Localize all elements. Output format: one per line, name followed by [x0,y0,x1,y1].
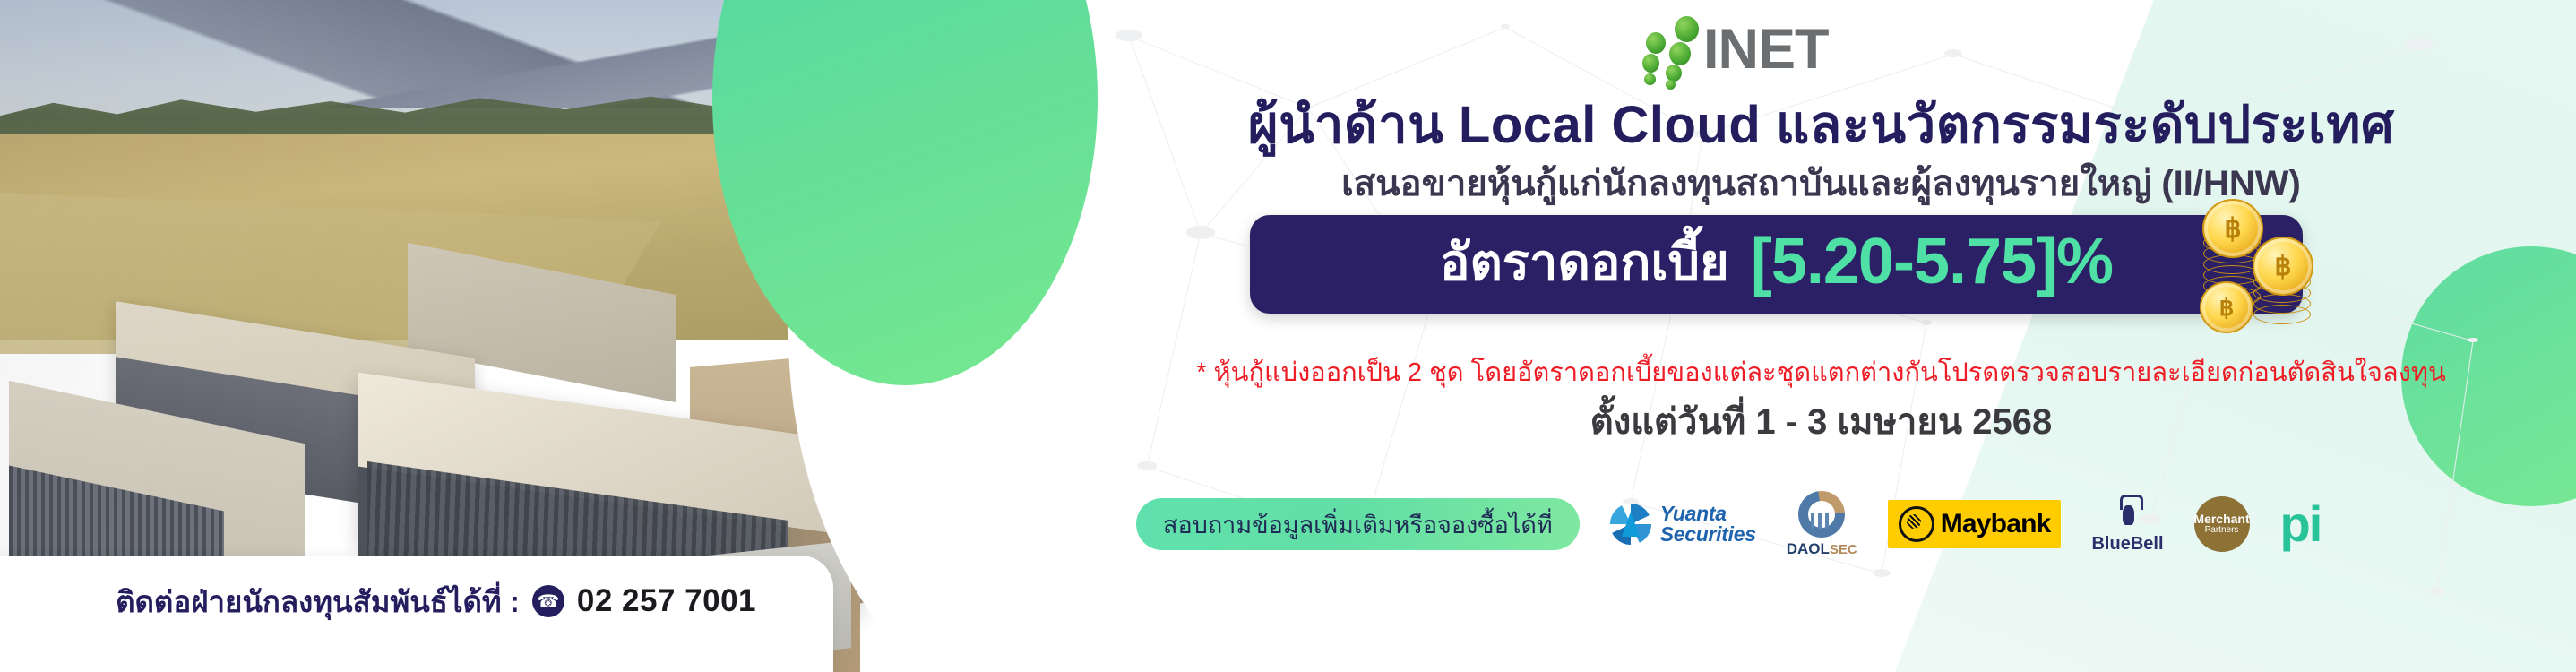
bluebell-wordmark: BlueBell [2091,534,2163,555]
inet-logo: INET [1626,14,1940,84]
logo-dot [1666,65,1682,82]
cta-and-partners-row: สอบถามข้อมูลเพิ่มเติมหรือจองซื้อได้ที่ Y… [1066,475,2576,573]
logo-dot [1646,32,1666,54]
daol-line1: DAOL [1787,540,1830,557]
disclaimer-text: * หุ้นกู้แบ่งออกเป็น 2 ชุด โดยอัตราดอกเบ… [1066,351,2576,392]
pi-wordmark-icon: pi [2280,504,2322,545]
maybank-wordmark: Maybank [1941,509,2051,539]
interest-rate-box: อัตราดอกเบี้ย [5.20-5.75]% [1250,215,2303,314]
interest-rate-value: [5.20-5.75]% [1751,229,2113,294]
inet-bond-promotional-banner: INET ผู้นำด้าน Local Cloud และนวัตกรรมระ… [0,0,2576,672]
page-subtitle: เสนอขายหุ้นกู้แก่นักลงทุนสถาบันและผู้ลงท… [1066,154,2576,211]
interest-rate-badge: อัตราดอกเบี้ย [5.20-5.75]% ฿ ฿ ฿ [1250,215,2330,314]
daol-pie-chart-icon [1798,491,1845,538]
partner-logo-yuanta[interactable]: Yuanta Securities [1610,489,1756,559]
partner-logos: Yuanta Securities DAOLSEC [1610,489,2322,559]
inet-dots-logo-icon [1626,14,1709,84]
bluebell-deer-icon [2111,495,2145,532]
partner-logo-daol[interactable]: DAOLSEC [1787,489,1857,559]
partner-logo-bluebell[interactable]: BlueBell [2091,489,2163,559]
logo-dot [1669,42,1691,65]
coin-single: ฿ [2200,281,2253,333]
logo-dot [1642,54,1659,73]
logo-dot [1675,16,1699,42]
merchant-line2: Partners [2205,526,2239,536]
contact-phone-number[interactable]: 02 257 7001 [577,583,756,619]
contact-label: ติดต่อฝ่ายนักลงทุนสัมพันธ์ได้ที่ : [116,578,520,625]
more-info-button[interactable]: สอบถามข้อมูลเพิ่มเติมหรือจองซื้อได้ที่ [1136,498,1580,550]
partner-logo-maybank[interactable]: Maybank [1888,489,2062,559]
yuanta-star-icon [1610,504,1651,545]
partner-logo-pi[interactable]: pi [2280,489,2322,559]
partner-logo-merchant-partners[interactable]: Merchant Partners [2194,489,2250,559]
offer-date-range: ตั้งแต่วันที่ 1 - 3 เมษายน 2568 [1066,392,2576,450]
merchant-line1: Merchant [2193,513,2249,526]
interest-rate-label: อัตราดอกเบี้ย [1440,237,1729,288]
content-column: INET ผู้นำด้าน Local Cloud และนวัตกรรมระ… [1066,0,2576,672]
gold-coin-stack-icon: ฿ ฿ ฿ [2198,188,2332,336]
phone-icon: ☎ [532,585,564,617]
investor-relations-contact-card: ติดต่อฝ่ายนักลงทุนสัมพันธ์ได้ที่ : ☎ 02 … [0,556,833,672]
daol-line2: SEC [1830,542,1857,557]
yuanta-line2: Securities [1660,524,1756,545]
inet-logo-wordmark: INET [1703,22,1829,78]
merchant-partners-circle-icon: Merchant Partners [2194,496,2250,552]
yuanta-line1: Yuanta [1660,504,1756,524]
maybank-tiger-icon [1899,506,1934,542]
